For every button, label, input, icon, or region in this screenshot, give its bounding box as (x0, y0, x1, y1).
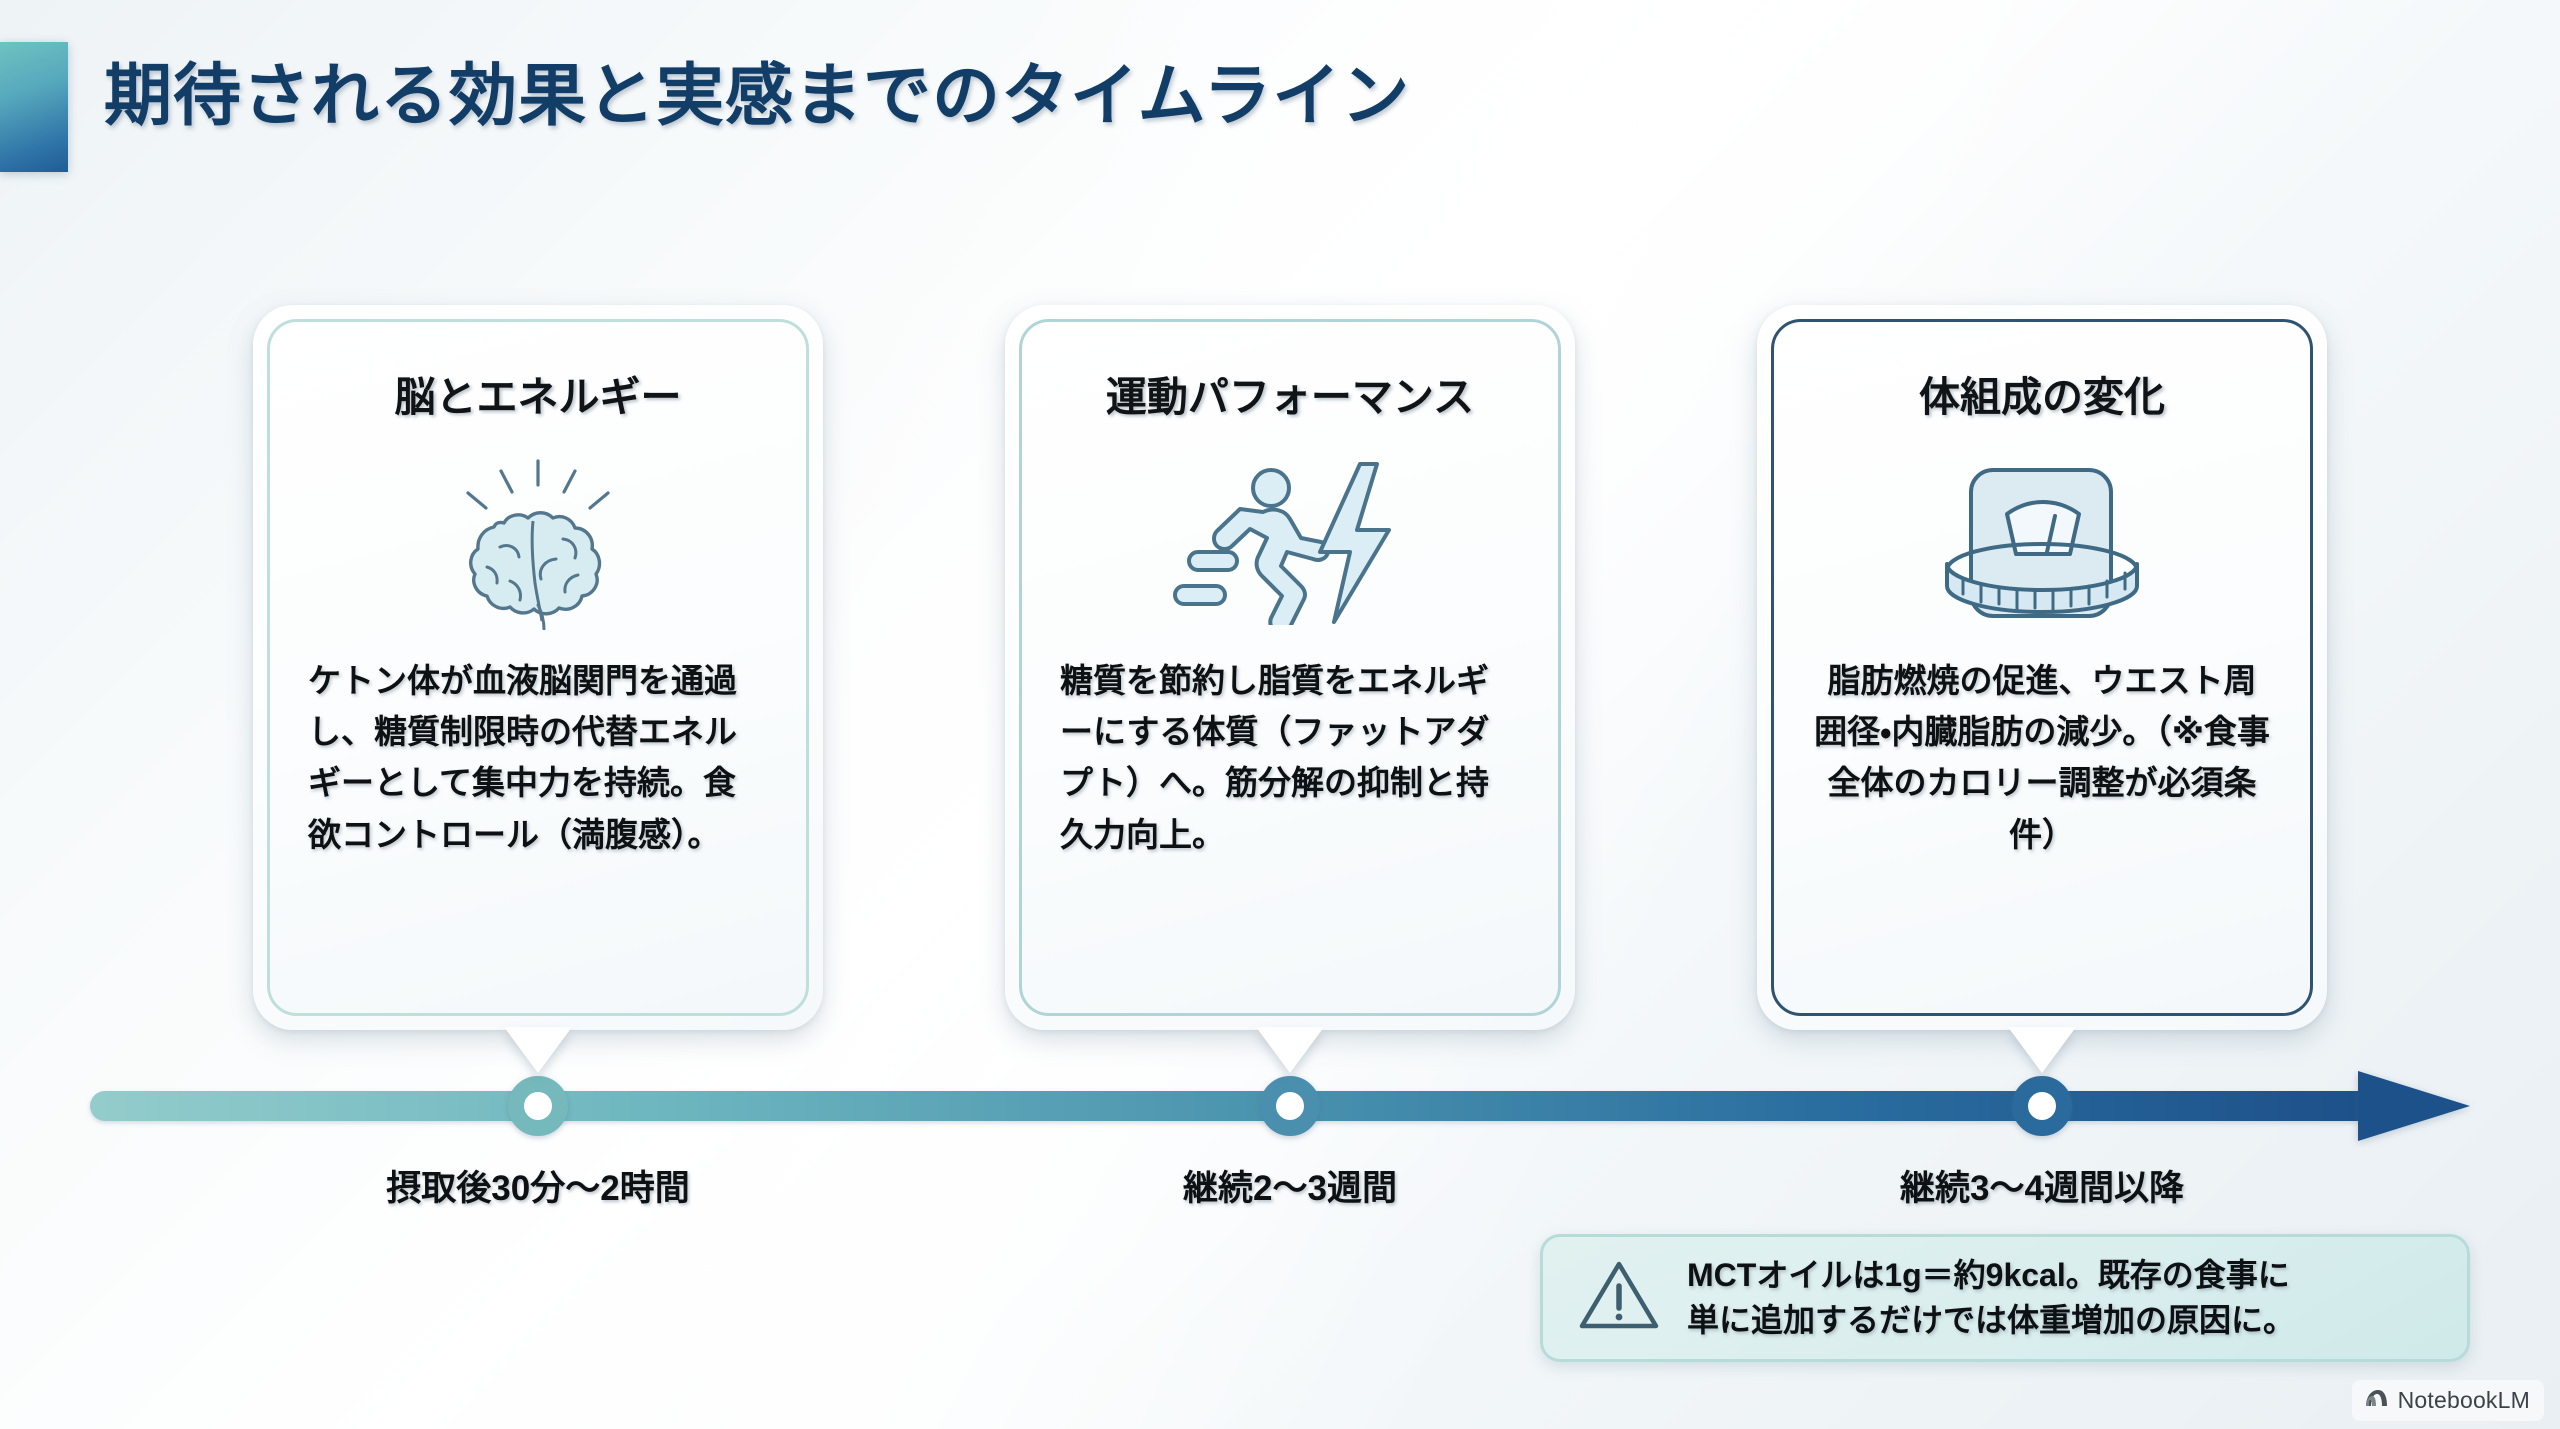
notebooklm-label: NotebookLM (2398, 1387, 2530, 1414)
card-pointer-2 (1256, 1027, 1324, 1073)
timeline-axis (90, 1085, 2400, 1127)
timeline-arrowhead-icon (2358, 1071, 2470, 1141)
card-title: 脳とエネルギー (395, 374, 682, 421)
card-pointer-3 (2008, 1027, 2076, 1073)
timeline-dot-3[interactable] (2012, 1076, 2072, 1136)
notebooklm-icon (2364, 1387, 2389, 1414)
card-body: ケトン体が血液脳関門を通過し、糖質制限時の代替エネルギーとして集中力を持続。食欲… (308, 655, 768, 860)
warning-line-1: MCTオイルは1g＝約9kcal。既存の食事に (1687, 1253, 2295, 1298)
warning-triangle-icon (1577, 1258, 1661, 1339)
card-exercise-performance[interactable]: 運動パフォーマンス 糖質を節約し脂質をエネルギーにする体質（ファットアダプト）へ… (1005, 305, 1575, 1030)
card-brain-and-energy[interactable]: 脳とエネルギー (253, 305, 823, 1030)
brain-icon (438, 447, 638, 637)
page-title: 期待される効果と実感までのタイムライン (104, 40, 1410, 139)
card-body-composition[interactable]: 体組成の変化 (1757, 305, 2327, 1030)
card-title: 運動パフォーマンス (1106, 374, 1474, 421)
weight-scale-tape-measure-icon (1935, 447, 2150, 637)
timeline-dot-2[interactable] (1260, 1076, 1320, 1136)
running-person-lightning-icon (1170, 447, 1410, 637)
card-title: 体組成の変化 (1919, 374, 2165, 421)
card-inner-frame: 脳とエネルギー (267, 319, 809, 1016)
card-body: 脂肪燃焼の促進、ウエスト周囲径・内臓脂肪の減少。（※食事全体のカロリー調整が必須… (1812, 655, 2272, 860)
timeline-label-3: 継続3〜4週間以降 (1732, 1160, 2352, 1211)
warning-text: MCTオイルは1g＝約9kcal。既存の食事に 単に追加するだけでは体重増加の原… (1687, 1253, 2295, 1344)
notebooklm-watermark: NotebookLM (2352, 1380, 2544, 1421)
timeline-label-1: 摂取後30分〜2時間 (228, 1160, 848, 1211)
warning-line-2: 単に追加するだけでは体重増加の原因に。 (1687, 1298, 2295, 1343)
timeline-label-2: 継続2〜3週間 (980, 1160, 1600, 1211)
title-accent-bar (0, 42, 68, 172)
timeline-dot-1[interactable] (508, 1076, 568, 1136)
card-body: 糖質を節約し脂質をエネルギーにする体質（ファットアダプト）へ。筋分解の抑制と持久… (1060, 655, 1520, 860)
card-pointer-1 (504, 1027, 572, 1073)
slide-canvas: 期待される効果と実感までのタイムライン 脳とエネルギー (0, 0, 2560, 1429)
warning-callout: MCTオイルは1g＝約9kcal。既存の食事に 単に追加するだけでは体重増加の原… (1540, 1234, 2470, 1362)
card-inner-frame: 運動パフォーマンス 糖質を節約し脂質をエネルギーにする体質（ファットアダプト）へ… (1019, 319, 1561, 1016)
card-inner-frame: 体組成の変化 (1771, 319, 2313, 1016)
